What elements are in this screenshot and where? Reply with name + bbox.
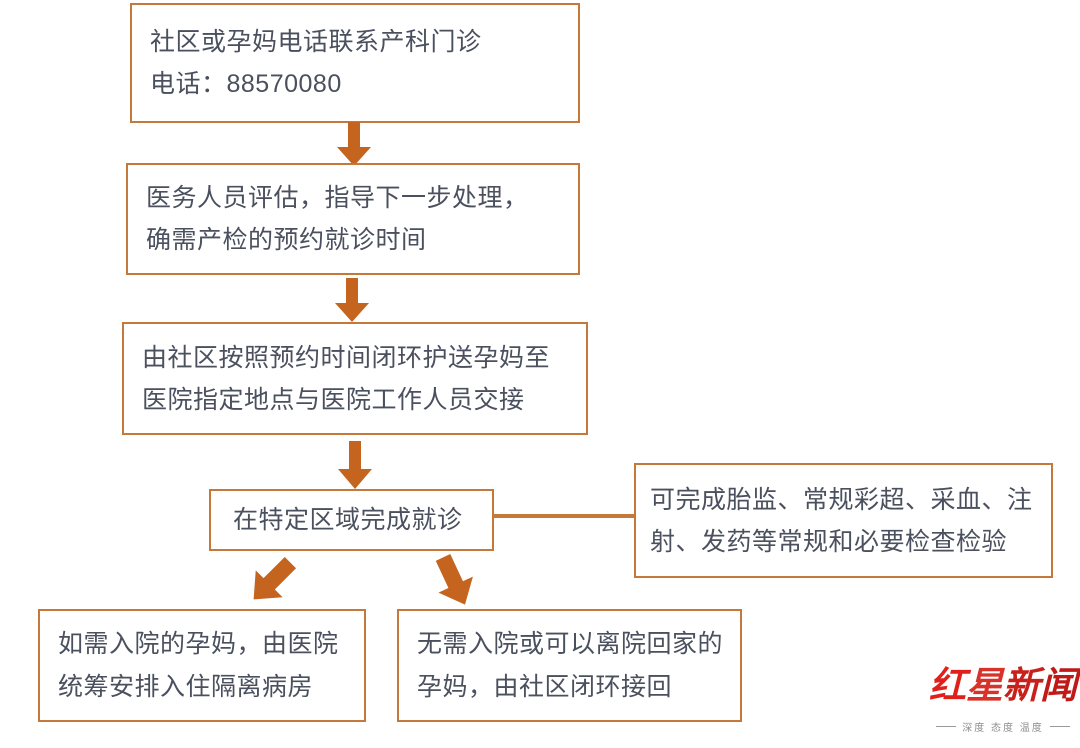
flow-node-admit-line-1: 如需入院的孕妈，由医院	[40, 623, 364, 666]
flow-node-discharge-line-1: 无需入院或可以离院回家的	[399, 623, 740, 666]
flow-node-discharge: 无需入院或可以离院回家的 孕妈，由社区闭环接回	[397, 609, 742, 722]
flow-node-assess: 医务人员评估，指导下一步处理， 确需产检的预约就诊时间	[126, 163, 580, 275]
flow-node-escort-line-1: 由社区按照预约时间闭环护送孕妈至	[124, 337, 586, 379]
tagline-text: 深度 态度 温度	[962, 719, 1044, 734]
logo-glyph-wen: 闻	[1040, 668, 1077, 705]
tagline-rule-left	[936, 726, 956, 727]
flow-node-discharge-line-2: 孕妈，由社区闭环接回	[399, 666, 740, 709]
flow-node-escort: 由社区按照预约时间闭环护送孕妈至 医院指定地点与医院工作人员交接	[122, 322, 588, 435]
publisher-logo: 红 星 新 闻 深度 态度 温度	[932, 668, 1074, 744]
arrow-down-icon	[331, 278, 373, 322]
publisher-logo-wordmark: 红 星 新 闻	[932, 668, 1074, 716]
logo-glyph-hong: 红	[929, 668, 966, 705]
arrow-down-right-icon	[427, 553, 481, 609]
flow-node-services-line-1: 可完成胎监、常规彩超、采血、注	[636, 479, 1051, 521]
flow-node-visit-line-1: 在特定区域完成就诊	[211, 505, 492, 535]
flow-node-services: 可完成胎监、常规彩超、采血、注 射、发药等常规和必要检查检验	[634, 463, 1053, 578]
logo-glyph-xing: 星	[966, 668, 1003, 705]
tagline-rule-right	[1050, 726, 1070, 727]
flow-node-assess-line-1: 医务人员评估，指导下一步处理，	[128, 177, 578, 219]
flow-node-admit: 如需入院的孕妈，由医院 统筹安排入住隔离病房	[38, 609, 366, 722]
logo-glyph-xin: 新	[1003, 668, 1040, 705]
flow-node-contact-line-2: 电话：88570080	[132, 63, 578, 105]
flow-node-contact: 社区或孕妈电话联系产科门诊 电话：88570080	[130, 3, 580, 123]
arrow-down-icon	[333, 122, 375, 166]
arrow-down-icon	[334, 441, 376, 489]
flow-node-assess-line-2: 确需产检的预约就诊时间	[128, 219, 578, 261]
flow-node-escort-line-2: 医院指定地点与医院工作人员交接	[124, 379, 586, 421]
flowchart-canvas: 社区或孕妈电话联系产科门诊 电话：88570080 医务人员评估，指导下一步处理…	[0, 0, 1080, 748]
horizontal-connector-line	[494, 513, 636, 519]
flow-node-services-line-2: 射、发药等常规和必要检查检验	[636, 521, 1051, 563]
flow-node-admit-line-2: 统筹安排入住隔离病房	[40, 666, 364, 709]
arrow-down-left-icon	[245, 553, 299, 609]
publisher-logo-tagline: 深度 态度 温度	[932, 719, 1074, 734]
flow-node-contact-line-1: 社区或孕妈电话联系产科门诊	[132, 21, 578, 63]
flow-node-visit: 在特定区域完成就诊	[209, 489, 494, 551]
